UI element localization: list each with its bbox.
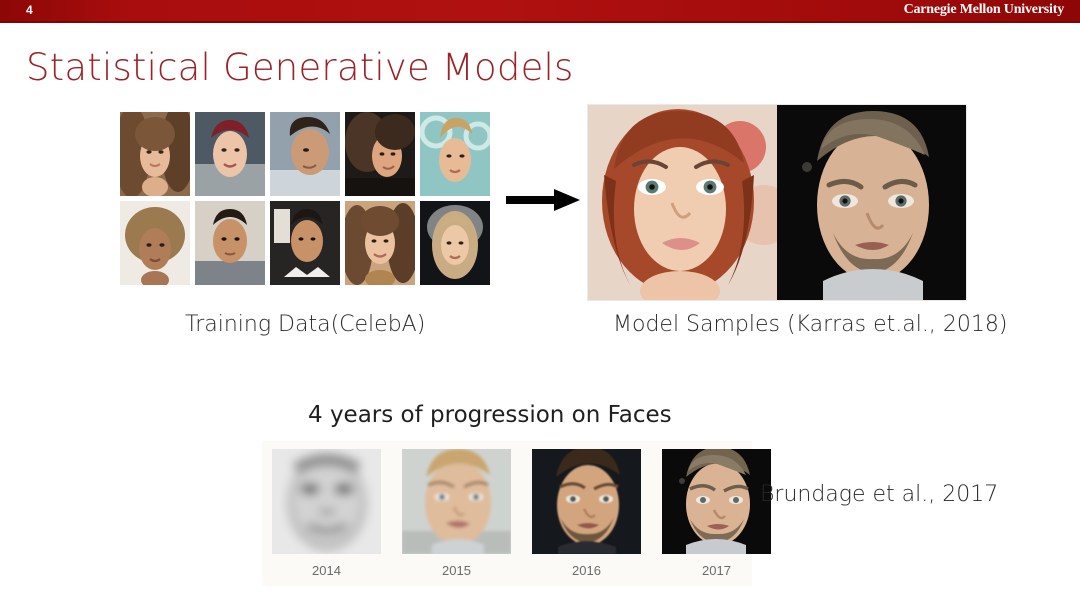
progression-2017-image [662,449,771,554]
training-thumbnail [270,112,340,196]
progression-year-label: 2016 [532,563,641,578]
training-thumbnail [195,112,265,196]
training-thumbnail [195,201,265,285]
training-thumbnail [345,112,415,196]
training-thumbnail [120,201,190,285]
progression-title: 4 years of progression on Faces [308,402,672,428]
progression-year-label: 2017 [662,563,771,578]
celeba-face-10-image [420,201,490,285]
slide-number: 4 [26,3,33,17]
progression-item: 2014 [272,449,381,578]
slide-canvas: 4 Carnegie Mellon University Statistical… [0,0,1080,607]
training-thumbnail [345,201,415,285]
gan-sample-male-image [777,105,966,300]
progression-item: 2016 [532,449,641,578]
progression-year-label: 2014 [272,563,381,578]
progression-2014-image [272,449,381,554]
celeba-face-3-image [270,112,340,196]
celeba-face-9-image [345,201,415,285]
celeba-face-4-image [345,112,415,196]
gan-sample-female-image [588,105,777,300]
model-samples-caption: Model Samples (Karras et.al., 2018) [613,312,1007,337]
training-data-caption: Training Data(CelebA) [185,312,425,337]
model-samples-images [588,105,966,300]
progression-year-label: 2015 [402,563,511,578]
progression-2016-image [532,449,641,554]
institution-wordmark: Carnegie Mellon University [904,1,1064,18]
celeba-face-7-image [195,201,265,285]
right-arrow-icon [506,188,580,212]
celeba-face-8-image [270,201,340,285]
training-thumbnail [120,112,190,196]
celeba-face-6-image [120,201,190,285]
progression-panel: 2014 [262,441,752,586]
training-thumbnail [270,201,340,285]
celeba-face-2-image [195,112,265,196]
brundage-citation: Brundage et al., 2017 [760,482,998,507]
progression-item: 2017 [662,449,771,578]
progression-strip: 2014 [272,449,771,578]
progression-2015-image [402,449,511,554]
training-data-grid [120,112,490,285]
training-thumbnail [420,201,490,285]
progression-item: 2015 [402,449,511,578]
page-title: Statistical Generative Models [26,46,574,89]
training-thumbnail [420,112,490,196]
celeba-face-5-image [420,112,490,196]
celeba-face-1-image [120,112,190,196]
header-bar: 4 Carnegie Mellon University [0,0,1080,23]
